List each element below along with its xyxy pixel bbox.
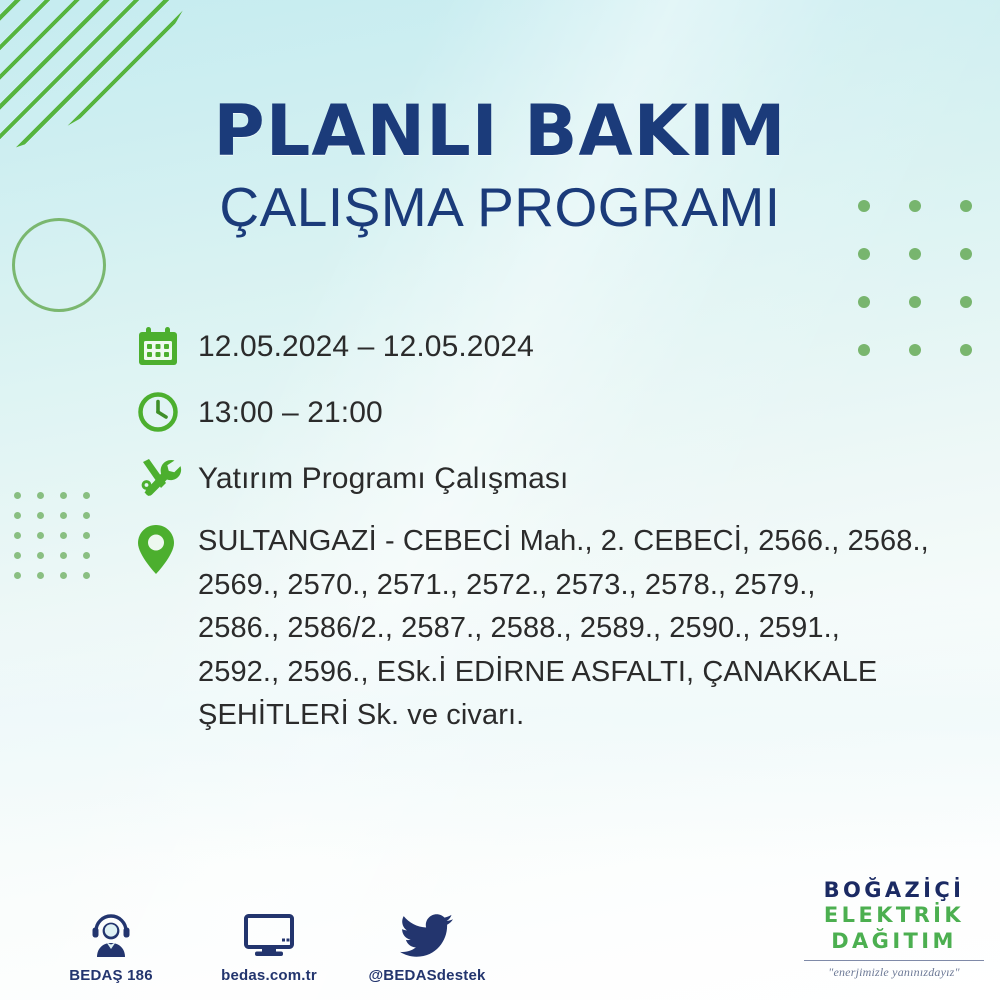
monitor-icon [210,907,328,959]
page-title: PLANLI BAKIM [0,96,1000,166]
contact-phone-label: BEDAŞ 186 [52,967,170,984]
decorative-dot [858,296,870,308]
bedas-logo: BOĞAZİÇİ ELEKTRİK DAĞITIM "enerjimizle y… [804,878,984,980]
decorative-dot [37,572,44,579]
brand-tagline: "enerjimizle yanınızdayız" [804,960,984,980]
tools-icon [136,454,198,504]
decorative-dot [37,532,44,539]
decorative-dot [60,572,67,579]
decorative-dot [37,492,44,499]
decorative-dot [60,492,67,499]
decorative-dot [83,552,90,559]
work-type-value: Yatırım Programı Çalışması [198,454,568,501]
detail-row-date: 12.05.2024 – 12.05.2024 [136,322,970,372]
location-line: 2586., 2586/2., 2587., 2588., 2589., 259… [198,612,840,644]
decorative-dot [909,296,921,308]
decorative-dot [14,492,21,499]
decorative-dot [14,572,21,579]
map-pin-icon [136,520,198,570]
time-range-value: 13:00 – 21:00 [198,388,383,435]
location-line: ŞEHİTLERİ Sk. ve civarı. [198,699,524,731]
location-line: 2569., 2570., 2571., 2572., 2573., 2578.… [198,569,816,601]
decorative-dot [60,532,67,539]
date-range-value: 12.05.2024 – 12.05.2024 [198,322,534,369]
brand-line-1: BOĞAZİÇİ [804,878,984,904]
detail-row-location: SULTANGAZİ - CEBECİ Mah., 2. CEBECİ, 256… [136,520,970,738]
decorative-dot [14,552,21,559]
contact-twitter[interactable]: @BEDASdestek [368,907,486,984]
decorative-dot [60,512,67,519]
decorative-dot [858,248,870,260]
decorative-dot [37,552,44,559]
maintenance-details: 12.05.2024 – 12.05.2024 13:00 – 21:00 [136,322,970,738]
call-center-agent-icon [52,907,170,959]
decorative-dot [909,248,921,260]
decorative-dot [14,532,21,539]
decorative-dot [83,532,90,539]
contact-website[interactable]: bedas.com.tr [210,907,328,984]
decorative-dot [83,492,90,499]
footer-contacts: BEDAŞ 186 bedas.com.tr @BEDASdestek [52,907,486,984]
page-subtitle: ÇALIŞMA PROGRAMI [0,180,1000,235]
decorative-dot [960,296,972,308]
detail-row-time: 13:00 – 21:00 [136,388,970,438]
location-value: SULTANGAZİ - CEBECİ Mah., 2. CEBECİ, 256… [198,520,929,738]
brand-line-2: ELEKTRİK [804,903,984,929]
decorative-dot [83,572,90,579]
contact-twitter-label: @BEDASdestek [368,967,486,984]
decorative-dot [60,552,67,559]
brand-line-3: DAĞITIM [804,929,984,955]
calendar-icon [136,322,198,372]
clock-icon [136,388,198,438]
decorative-dot [83,512,90,519]
decorative-dot [960,248,972,260]
planned-maintenance-poster: PLANLI BAKIM ÇALIŞMA PROGRAMI [0,0,1000,1000]
location-line: SULTANGAZİ - CEBECİ Mah., 2. CEBECİ, 256… [198,525,929,557]
contact-phone[interactable]: BEDAŞ 186 [52,907,170,984]
location-line: 2592., 2596., ESk.İ EDİRNE ASFALTI, ÇANA… [198,656,877,688]
poster-header: PLANLI BAKIM ÇALIŞMA PROGRAMI [0,96,1000,235]
decorative-dot [14,512,21,519]
decorative-dot [37,512,44,519]
contact-website-label: bedas.com.tr [210,967,328,984]
detail-row-work-type: Yatırım Programı Çalışması [136,454,970,504]
twitter-bird-icon [368,907,486,959]
